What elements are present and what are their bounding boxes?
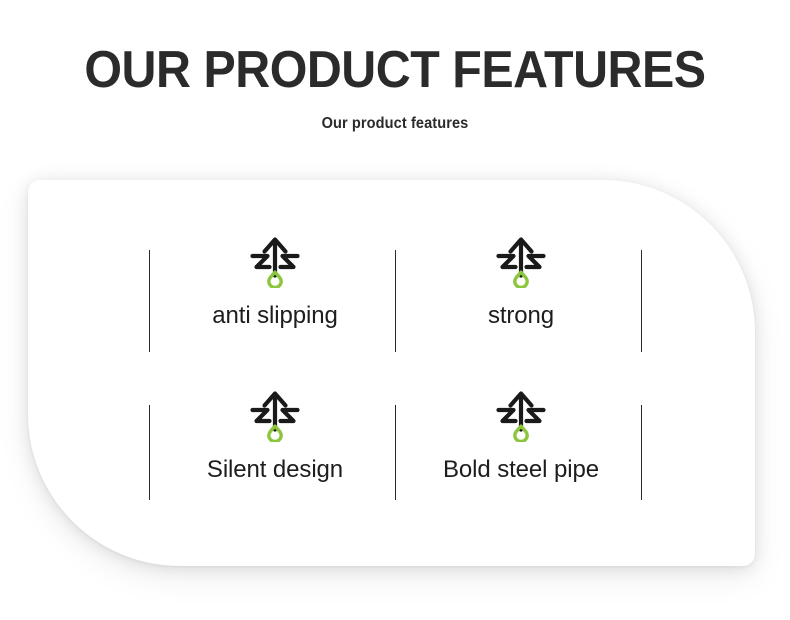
feature-card: anti slipping strong [28, 180, 755, 566]
feature-grid: anti slipping strong [28, 180, 755, 566]
arrow-tree-droplet-icon [246, 232, 304, 288]
feature-item-anti-slipping[interactable]: anti slipping [152, 232, 398, 364]
feature-label: anti slipping [212, 302, 337, 330]
arrow-tree-droplet-icon [492, 386, 550, 442]
page-header: OUR PRODUCT FEATURES Our product feature… [0, 0, 790, 133]
arrow-tree-droplet-icon [492, 232, 550, 288]
feature-item-silent-design[interactable]: Silent design [152, 386, 398, 518]
feature-item-strong[interactable]: strong [398, 232, 644, 364]
page-subtitle: Our product features [24, 96, 767, 133]
page-title: OUR PRODUCT FEATURES [28, 0, 763, 96]
arrow-tree-droplet-icon [246, 386, 304, 442]
feature-item-bold-steel-pipe[interactable]: Bold steel pipe [398, 386, 644, 518]
feature-label: Bold steel pipe [443, 456, 599, 484]
divider-bottom-left [149, 405, 150, 500]
divider-top-left [149, 250, 150, 352]
feature-label: Silent design [207, 456, 343, 484]
feature-label: strong [488, 302, 554, 330]
